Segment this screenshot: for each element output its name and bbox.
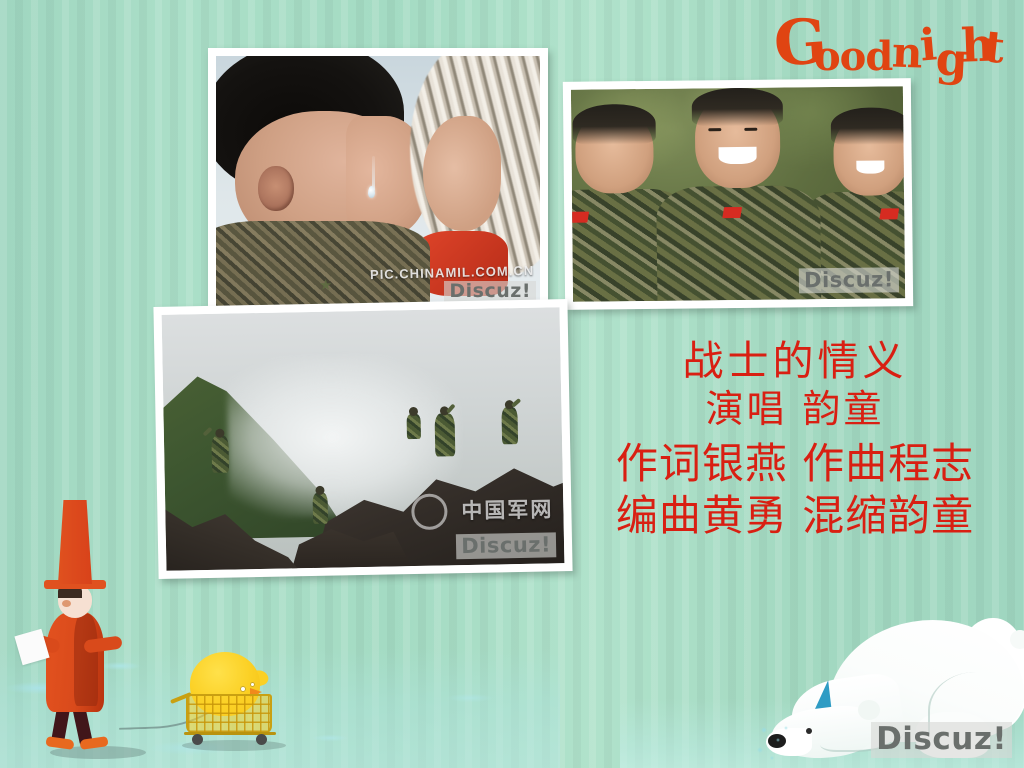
cartoon-man-with-cart bbox=[22, 500, 152, 750]
chinamil-cn-watermark: 中国军网 bbox=[461, 493, 554, 525]
photo1-image: PIC.CHINAMIL.COM.CN Discuz! bbox=[216, 56, 540, 306]
soldier-center-smile bbox=[719, 147, 757, 164]
page-discuz-watermark: Discuz! bbox=[871, 722, 1012, 758]
soldier-left-collar-tab bbox=[571, 212, 589, 223]
shouting-soldier-4 bbox=[434, 407, 455, 457]
man-paper-sheet bbox=[14, 629, 49, 666]
song-credits: 战士的情义 演唱 韵童 作词银燕 作曲程志 编曲黄勇 混缩韵童 bbox=[566, 336, 1024, 541]
soldier-right-collar-tab bbox=[880, 209, 900, 220]
cart-wheel-left bbox=[192, 734, 203, 745]
soldier-body bbox=[434, 414, 455, 457]
headline-letters-ood: ood bbox=[814, 37, 892, 77]
soldier-center-uniform bbox=[656, 185, 821, 301]
camouflage-uniform bbox=[216, 221, 430, 306]
cart-wheel-right bbox=[256, 734, 267, 745]
shouting-soldier-5 bbox=[502, 400, 519, 444]
shouting-soldier-2 bbox=[312, 486, 328, 524]
photo-soldiers-on-peak[interactable]: 中国军网 Discuz! bbox=[153, 299, 572, 579]
discuz-watermark: Discuz! bbox=[456, 532, 556, 559]
soldier-body bbox=[212, 436, 230, 473]
photo-smiling-soldiers[interactable]: Discuz! bbox=[563, 78, 913, 310]
photo3-scene bbox=[162, 307, 565, 571]
soldier-arm bbox=[511, 398, 521, 408]
photo3-image: 中国军网 Discuz! bbox=[162, 307, 565, 571]
man-tall-hat bbox=[58, 500, 92, 584]
soldier-body bbox=[406, 414, 420, 439]
bear-tail bbox=[1010, 630, 1024, 649]
chick-cart bbox=[186, 652, 278, 746]
man-cheek bbox=[62, 600, 71, 607]
photo2-image: Discuz! bbox=[571, 86, 905, 301]
song-lyricist-composer: 作词银燕 作曲程志 bbox=[566, 438, 1024, 489]
soldier-center-collar-tab bbox=[723, 207, 743, 218]
soldier-right-smile bbox=[856, 160, 885, 174]
man-coat-shading bbox=[74, 614, 98, 706]
discuz-watermark: Discuz! bbox=[799, 267, 899, 293]
photo-crying-soldier[interactable]: PIC.CHINAMIL.COM.CN Discuz! bbox=[208, 48, 548, 314]
chick-eye-left bbox=[240, 686, 246, 692]
soldier-head bbox=[216, 429, 225, 438]
soldier-head bbox=[409, 407, 418, 416]
soldier-center-eye-right bbox=[745, 128, 758, 131]
hooded-person-face bbox=[423, 116, 501, 231]
soldier-body bbox=[312, 493, 328, 524]
soldier-center-hair bbox=[692, 88, 783, 127]
soldier-center-eye-left bbox=[708, 128, 721, 131]
soldier-center bbox=[664, 87, 812, 301]
song-performer: 演唱 韵童 bbox=[566, 386, 1024, 432]
song-title: 战士的情义 bbox=[566, 336, 1024, 386]
shouting-soldier-3 bbox=[406, 407, 421, 439]
soldier-left-hair bbox=[573, 104, 657, 145]
tear-drop bbox=[368, 186, 375, 198]
soldier-body bbox=[502, 407, 519, 444]
snow-sparkles bbox=[756, 724, 816, 768]
song-arranger-mixer: 编曲黄勇 混缩韵童 bbox=[566, 490, 1024, 541]
headline-letter-t: t bbox=[982, 25, 1007, 71]
goodnight-headline: G ood n i g h t bbox=[770, 10, 1010, 90]
chick-eye-right bbox=[250, 682, 255, 687]
soldier-right-hair bbox=[830, 107, 905, 145]
slide-canvas: PIC.CHINAMIL.COM.CN Discuz! bbox=[0, 0, 1024, 768]
soldier-ear bbox=[258, 166, 294, 211]
shouting-soldier-1 bbox=[212, 429, 230, 473]
man-shoe-front bbox=[45, 736, 74, 750]
cart-basket bbox=[186, 694, 272, 734]
